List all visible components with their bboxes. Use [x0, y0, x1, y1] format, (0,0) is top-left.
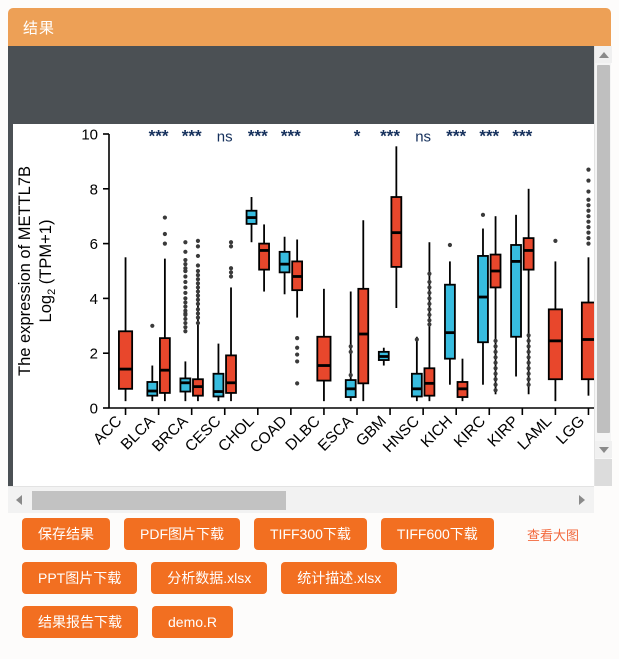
svg-text:ESCA: ESCA: [315, 412, 357, 454]
arrow-down-icon: [599, 447, 609, 453]
view-large-image-link[interactable]: 查看大图: [527, 525, 579, 544]
download-demo-r-button[interactable]: demo.R: [152, 606, 233, 638]
svg-text:COAD: COAD: [247, 413, 291, 457]
svg-text:HNSC: HNSC: [380, 413, 423, 456]
svg-text:LAML: LAML: [515, 413, 556, 454]
action-buttons: 保存结果 PDF图片下载 TIFF300下载 TIFF600下载 查看大图 PP…: [0, 518, 619, 650]
result-panel: 结果 0246810The expression of METTL7BLog2 …: [0, 0, 619, 659]
vertical-scrollbar[interactable]: [594, 46, 611, 486]
svg-text:BRCA: BRCA: [149, 412, 192, 455]
plot-viewport: 0246810The expression of METTL7BLog2 (TP…: [8, 46, 594, 486]
action-row-2: PPT图片下载 分析数据.xlsx 统计描述.xlsx: [22, 562, 619, 594]
svg-text:***: ***: [281, 127, 301, 146]
download-report-button[interactable]: 结果报告下载: [22, 606, 138, 638]
svg-text:0: 0: [90, 401, 98, 418]
boxplot-canvas: 0246810The expression of METTL7BLog2 (TP…: [13, 124, 594, 486]
svg-text:*: *: [354, 127, 361, 146]
svg-text:***: ***: [182, 127, 202, 146]
arrow-left-icon: [16, 495, 22, 505]
download-tiff600-button[interactable]: TIFF600下载: [381, 518, 494, 550]
download-ppt-button[interactable]: PPT图片下载: [22, 562, 137, 594]
svg-text:ns: ns: [415, 129, 431, 146]
arrow-up-icon: [599, 52, 609, 58]
scroll-left-button[interactable]: [10, 487, 27, 513]
vertical-scroll-thumb[interactable]: [597, 65, 610, 433]
svg-text:The expression of METTL7B: The expression of METTL7B: [16, 166, 34, 376]
svg-text:***: ***: [479, 127, 499, 146]
page-title: 结果: [23, 17, 55, 38]
svg-text:KIRC: KIRC: [451, 413, 489, 451]
svg-text:***: ***: [248, 127, 268, 146]
svg-text:LGG: LGG: [553, 413, 588, 448]
download-analysis-data-button[interactable]: 分析数据.xlsx: [151, 562, 267, 594]
action-row-3: 结果报告下载 demo.R: [22, 606, 619, 638]
svg-text:KICH: KICH: [418, 413, 456, 451]
svg-text:2: 2: [90, 346, 98, 363]
download-pdf-button[interactable]: PDF图片下载: [124, 518, 240, 550]
boxplot-chart: 0246810The expression of METTL7BLog2 (TP…: [13, 124, 594, 486]
svg-text:Log2 (TPM+1): Log2 (TPM+1): [37, 220, 58, 323]
svg-text:4: 4: [90, 291, 98, 308]
horizontal-scroll-thumb[interactable]: [32, 491, 286, 510]
svg-text:***: ***: [380, 127, 400, 146]
svg-text:DLBC: DLBC: [282, 413, 323, 454]
download-tiff300-button[interactable]: TIFF300下载: [254, 518, 367, 550]
svg-text:CESC: CESC: [182, 413, 224, 455]
svg-text:***: ***: [149, 127, 169, 146]
arrow-right-icon: [579, 495, 585, 505]
svg-text:ns: ns: [217, 129, 233, 146]
scroll-up-button[interactable]: [595, 46, 612, 63]
action-row-1: 保存结果 PDF图片下载 TIFF300下载 TIFF600下载 查看大图: [22, 518, 619, 550]
scroll-right-button[interactable]: [573, 487, 590, 513]
scroll-down-button[interactable]: [595, 441, 612, 458]
svg-text:***: ***: [446, 127, 466, 146]
svg-text:6: 6: [90, 236, 98, 253]
svg-text:8: 8: [90, 181, 98, 198]
svg-text:***: ***: [512, 127, 532, 146]
panel-header: 结果: [8, 8, 611, 46]
scrollbar-corner: [595, 459, 612, 486]
svg-text:10: 10: [81, 127, 98, 144]
download-statistics-button[interactable]: 统计描述.xlsx: [281, 562, 397, 594]
horizontal-scrollbar[interactable]: [8, 486, 594, 513]
save-result-button[interactable]: 保存结果: [22, 518, 110, 550]
